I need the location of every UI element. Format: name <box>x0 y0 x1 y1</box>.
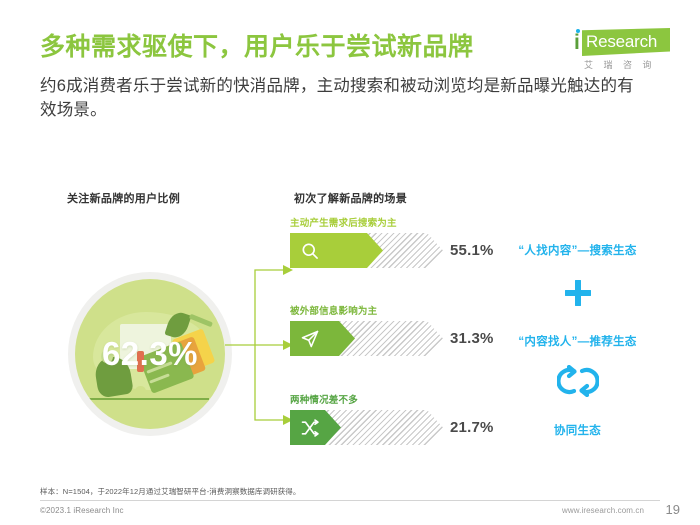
connector-branch-1 <box>255 270 283 345</box>
bar-label-1: 主动产生需求后搜索为主 <box>290 215 490 229</box>
plus-icon-wrap <box>470 278 685 308</box>
search-icon <box>300 241 320 261</box>
sample-note: 样本：N=1504，于2022年12月通过艾瑞智研平台-消费洞察数据库调研获得。 <box>40 486 301 497</box>
bar-label-2: 被外部信息影响为主 <box>290 303 490 317</box>
logo-i-dot-icon <box>576 29 580 33</box>
copyright-text: ©2023.1 iResearch Inc <box>40 506 124 515</box>
logo-letter-i: i <box>574 30 580 56</box>
logo-chinese-name: 艾 瑞 咨 询 <box>584 58 670 71</box>
send-icon <box>300 329 320 349</box>
bar-row-3: 21.7% <box>290 410 490 445</box>
ecosystem-label-collaborative: 协同生态 <box>470 422 685 438</box>
right-section-title: 初次了解新品牌的场景 <box>294 190 407 206</box>
website-url: www.iresearch.com.cn <box>562 506 644 515</box>
connector-branch-3 <box>255 345 283 420</box>
page-subtitle: 约6成消费者乐于尝试新的快消品牌，主动搜索和被动浏览均是新品曝光触达的有效场景。 <box>40 74 640 122</box>
bar-label-3: 两种情况差不多 <box>290 392 490 406</box>
percentage-circle: 62.3% <box>68 272 232 436</box>
bar-group-1: 主动产生需求后搜索为主 55.1% <box>290 215 490 268</box>
ecosystem-label-recommend: “内容找人”—推荐生态 <box>470 333 685 349</box>
ecosystem-label-search: “人找内容”—搜索生态 <box>470 242 685 258</box>
logo-wordmark: Research <box>586 31 657 53</box>
page-title: 多种需求驱使下，用户乐于尝试新品牌 <box>40 30 474 64</box>
shuffle-icon <box>300 418 320 438</box>
circle-percentage-value: 62.3% <box>68 272 232 436</box>
bar-fill-1 <box>290 233 383 268</box>
slide-page: 多种需求驱使下，用户乐于尝试新品牌 i Research 艾 瑞 咨 询 约6成… <box>0 0 700 525</box>
left-section-title: 关注新品牌的用户比例 <box>67 190 180 206</box>
title-row: 多种需求驱使下，用户乐于尝试新品牌 i Research 艾 瑞 咨 询 <box>40 30 665 66</box>
plus-icon <box>563 278 593 308</box>
cycle-icon <box>557 365 599 397</box>
page-number: 19 <box>666 502 680 517</box>
bar-row-1: 55.1% <box>290 233 490 268</box>
bar-group-2: 被外部信息影响为主 31.3% <box>290 303 490 356</box>
cycle-icon-wrap <box>470 365 685 397</box>
footer-divider <box>40 500 660 501</box>
iresearch-logo: i Research 艾 瑞 咨 询 <box>572 28 670 76</box>
page-header: 多种需求驱使下，用户乐于尝试新品牌 i Research 艾 瑞 咨 询 约6成… <box>40 30 665 122</box>
bar-row-2: 31.3% <box>290 321 490 356</box>
logo-mark: i Research <box>572 28 670 58</box>
bar-group-3: 两种情况差不多 21.7% <box>290 392 490 445</box>
